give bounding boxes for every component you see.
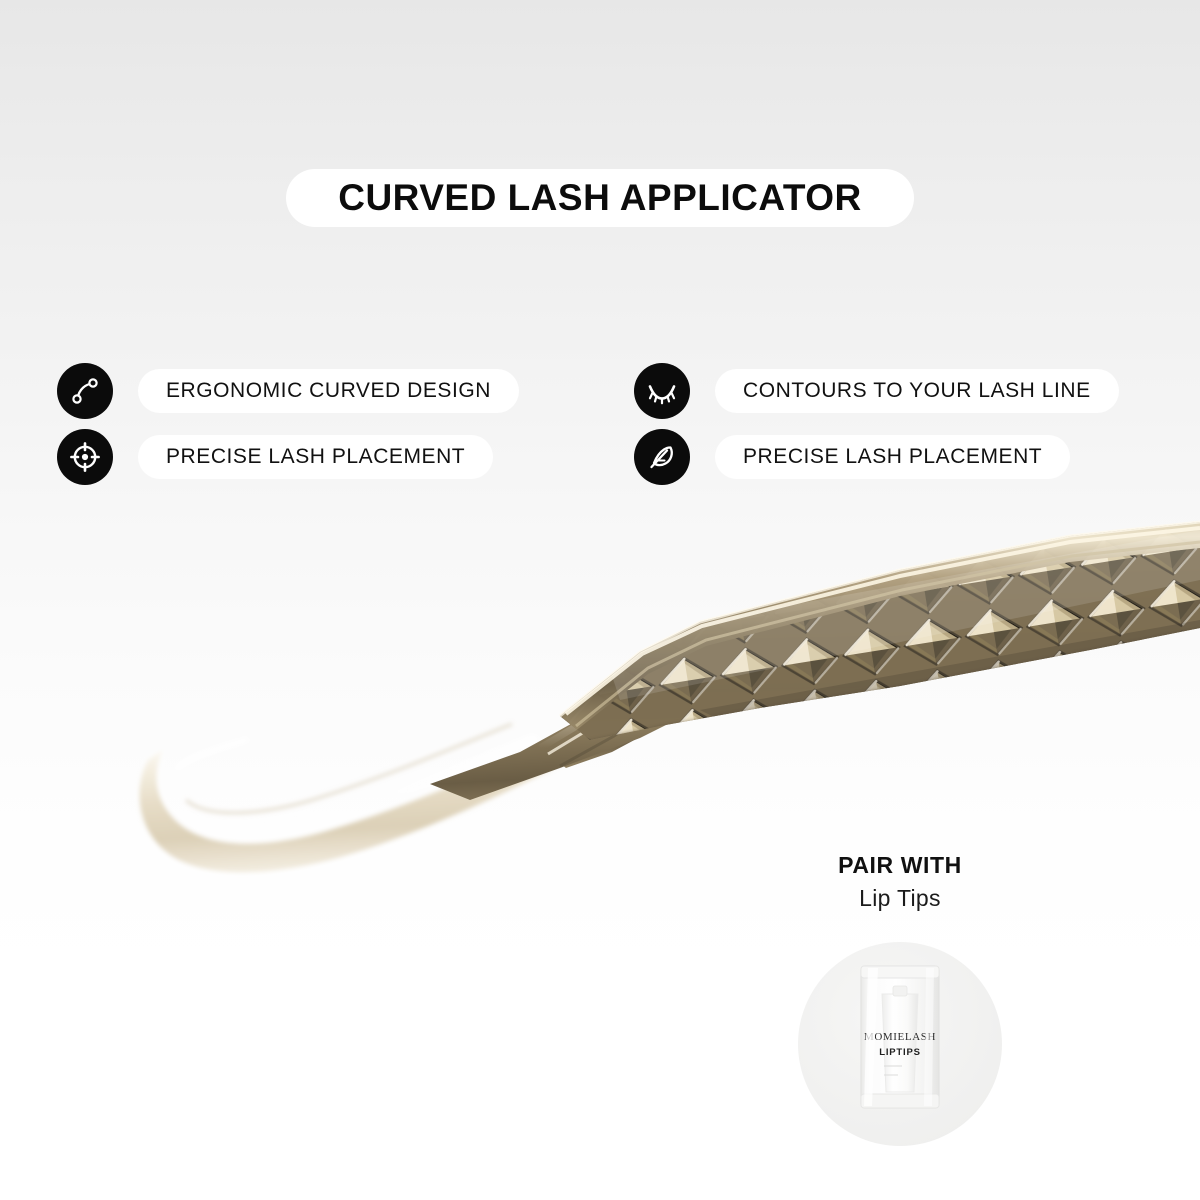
applicator-handle bbox=[540, 510, 1200, 760]
feature-item-ergonomic-curved-design[interactable]: ERGONOMIC CURVED DESIGN bbox=[57, 363, 519, 419]
feature-item-precise-lash-placement-right[interactable]: PRECISE LASH PLACEMENT bbox=[634, 429, 1070, 485]
pair-with-product-name: Lip Tips bbox=[700, 885, 1100, 912]
product-image-applicator bbox=[0, 500, 1200, 880]
feature-label: PRECISE LASH PLACEMENT bbox=[743, 445, 1042, 469]
pair-with-thumbnail[interactable]: MOMIELASH LIPTIPS bbox=[798, 942, 1002, 1146]
bezier-curve-icon bbox=[57, 363, 113, 419]
feature-pill: PRECISE LASH PLACEMENT bbox=[138, 435, 493, 479]
page-title-pill: CURVED LASH APPLICATOR bbox=[286, 169, 914, 227]
feature-pill: CONTOURS TO YOUR LASH LINE bbox=[715, 369, 1119, 413]
feature-pill: ERGONOMIC CURVED DESIGN bbox=[138, 369, 519, 413]
feature-pill: PRECISE LASH PLACEMENT bbox=[715, 435, 1070, 479]
feather-icon bbox=[634, 429, 690, 485]
crosshair-target-icon bbox=[57, 429, 113, 485]
feature-item-precise-lash-placement-left[interactable]: PRECISE LASH PLACEMENT bbox=[57, 429, 493, 485]
feature-label: PRECISE LASH PLACEMENT bbox=[166, 445, 465, 469]
applicator-shaft bbox=[420, 640, 720, 820]
product-feature-card: CURVED LASH APPLICATOR bbox=[0, 0, 1200, 1200]
feature-item-contours-to-your-lash-line[interactable]: CONTOURS TO YOUR LASH LINE bbox=[634, 363, 1119, 419]
feature-label: CONTOURS TO YOUR LASH LINE bbox=[743, 379, 1091, 403]
pair-with-heading: PAIR WITH bbox=[700, 852, 1100, 879]
closed-eye-lashes-icon bbox=[634, 363, 690, 419]
applicator-tip bbox=[140, 724, 566, 872]
thumbnail-product-label: LIPTIPS bbox=[879, 1047, 921, 1058]
feature-label: ERGONOMIC CURVED DESIGN bbox=[166, 379, 491, 403]
page-title: CURVED LASH APPLICATOR bbox=[338, 177, 862, 219]
pair-with-block: PAIR WITH Lip Tips bbox=[700, 852, 1100, 912]
